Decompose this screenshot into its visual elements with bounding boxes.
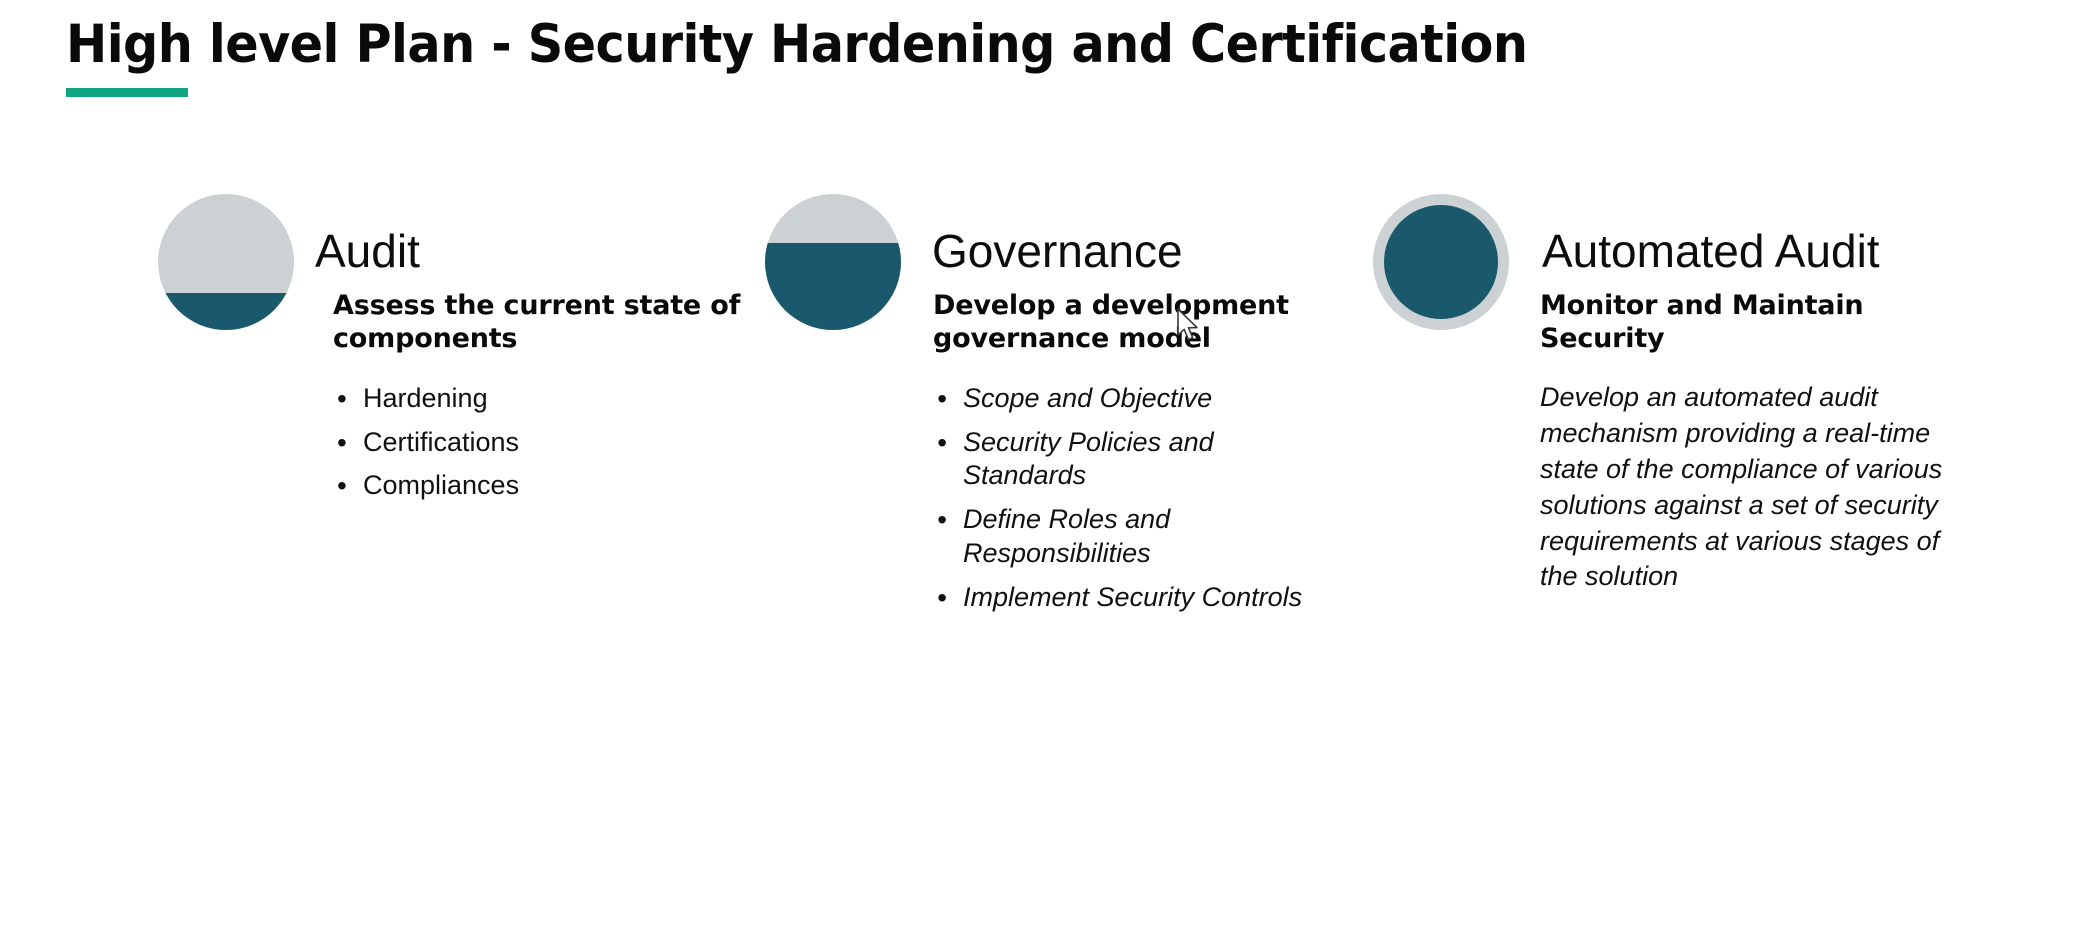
list-item: Security Policies and Standards <box>933 426 1333 494</box>
list-item: Define Roles and Responsibilities <box>933 503 1333 571</box>
stage-body-audit: Assess the current state of components H… <box>333 290 763 513</box>
stage-body-automated-audit: Monitor and Maintain Security Develop an… <box>1540 290 1960 595</box>
stage-lede-governance: Develop a development governance model <box>933 290 1333 356</box>
title-block: High level Plan - Security Hardening and… <box>66 16 1966 97</box>
title-accent-rule <box>66 88 188 97</box>
gauge-track <box>158 194 294 330</box>
two-thirds-filled-circle-icon <box>765 194 901 330</box>
stage-bullets-audit: Hardening Certifications Compliances <box>333 382 763 503</box>
stage-paragraph-automated-audit: Develop an automated audit mechanism pro… <box>1540 380 1960 595</box>
gauge-fill <box>158 293 294 330</box>
stage-body-governance: Develop a development governance model S… <box>933 290 1333 624</box>
stage-bullets-governance: Scope and Objective Security Policies an… <box>933 382 1333 615</box>
stages-container: Audit Assess the current state of compon… <box>0 176 2082 876</box>
stage-column-governance: Governance Develop a development governa… <box>757 176 1357 326</box>
stage-title-governance: Governance <box>932 228 1183 274</box>
stage-column-audit: Audit Assess the current state of compon… <box>150 176 750 326</box>
page-title: High level Plan - Security Hardening and… <box>66 16 1833 74</box>
gauge-fill <box>765 243 901 330</box>
list-item: Certifications <box>333 426 763 460</box>
list-item: Compliances <box>333 469 763 503</box>
stage-column-automated-audit: Automated Audit Monitor and Maintain Sec… <box>1365 176 1985 326</box>
slide-canvas: High level Plan - Security Hardening and… <box>0 0 2082 930</box>
half-filled-circle-icon <box>158 194 294 330</box>
stage-title-automated-audit: Automated Audit <box>1542 228 1880 274</box>
stage-title-audit: Audit <box>315 228 420 274</box>
full-filled-circle-icon <box>1373 194 1509 330</box>
gauge-track <box>1373 194 1509 330</box>
gauge-fill <box>1384 205 1498 319</box>
list-item: Scope and Objective <box>933 382 1333 416</box>
gauge-track <box>765 194 901 330</box>
list-item: Hardening <box>333 382 763 416</box>
stage-lede-audit: Assess the current state of components <box>333 290 763 356</box>
list-item: Implement Security Controls <box>933 581 1333 615</box>
stage-lede-automated-audit: Monitor and Maintain Security <box>1540 290 1960 356</box>
